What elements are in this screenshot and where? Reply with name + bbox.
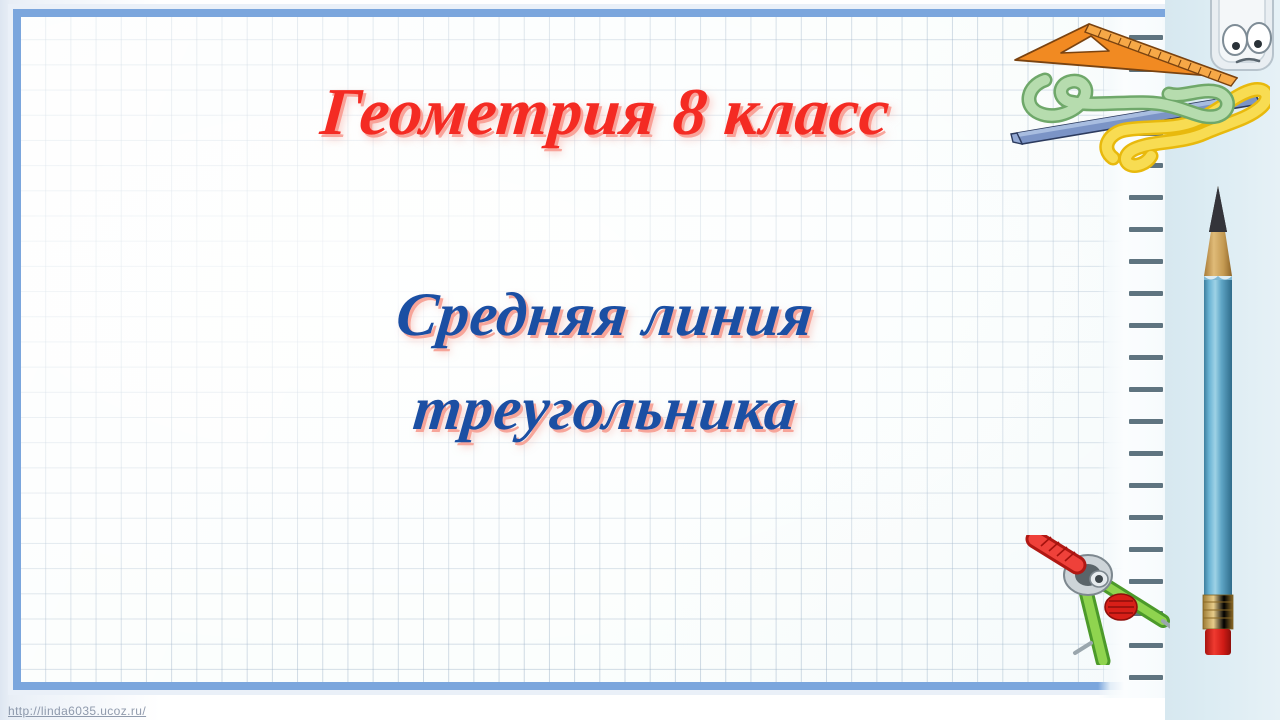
eraser-character-svg [1205,0,1280,74]
ruler-tick-mark [1129,195,1163,200]
ruler-tick-mark [1129,291,1163,296]
presentation-slide: Геометрия 8 класс Средняя линия треуголь… [0,0,1280,720]
compass-adjustment-wheel [1105,594,1137,620]
ruler-tick-mark [1129,419,1163,424]
pencil-svg [1196,180,1240,660]
ruler-tick-mark [1129,515,1163,520]
ruler-tick-mark [1129,355,1163,360]
ruler-tick-mark [1129,227,1163,232]
compass-handle [1035,537,1077,565]
ruler-tick-mark [1129,451,1163,456]
ruler-tick-mark [1129,675,1163,680]
compass-icon [1025,535,1170,665]
french-curve-green-icon [1029,80,1228,117]
ruler-tick-mark [1129,259,1163,264]
pencil-icon [1196,180,1240,660]
ruler-tick-mark [1129,483,1163,488]
ruler-tick-mark [1129,387,1163,392]
ruler-tick-mark [1129,323,1163,328]
source-watermark-link[interactable]: http://linda6035.ucoz.ru/ [8,704,146,718]
eraser-character-icon [1205,0,1280,74]
compass-svg [1025,535,1170,665]
